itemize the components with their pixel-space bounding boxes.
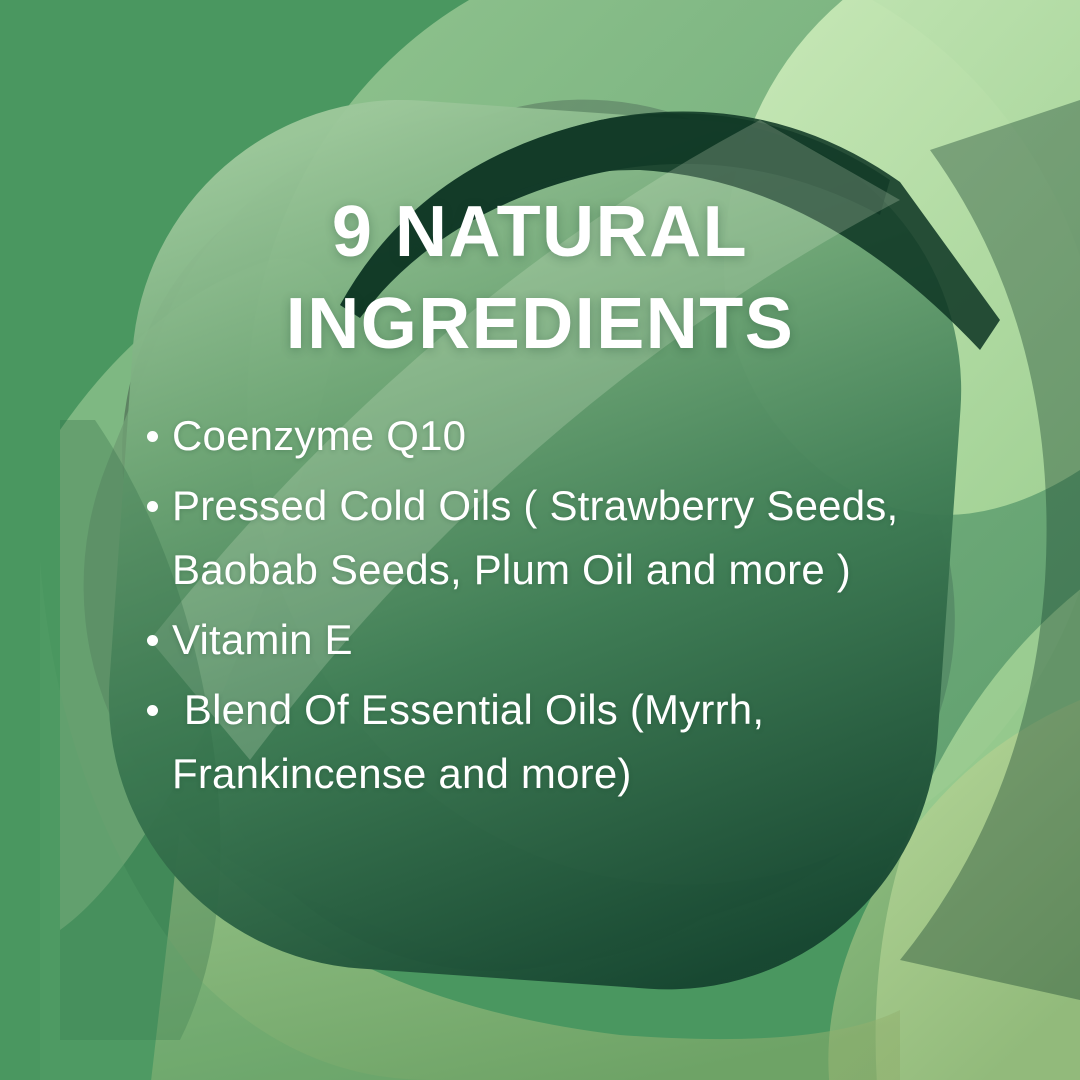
list-item: Vitamin E — [140, 608, 970, 672]
poster-canvas: 9 NATURAL INGREDIENTS Coenzyme Q10Presse… — [0, 0, 1080, 1080]
poster-title: 9 NATURAL INGREDIENTS — [0, 186, 1080, 370]
list-item: Coenzyme Q10 — [140, 404, 970, 468]
list-item-label: Blend Of Essential Oils (Myrrh, Frankinc… — [172, 678, 970, 806]
list-item-label: Vitamin E — [172, 608, 970, 672]
title-line-2: INGREDIENTS — [0, 278, 1080, 370]
bullet-dot-icon — [140, 678, 172, 742]
list-item: Pressed Cold Oils ( Strawberry Seeds, Ba… — [140, 474, 970, 602]
title-line-1: 9 NATURAL — [0, 186, 1080, 278]
bullet-dot-icon — [140, 404, 172, 468]
list-item-label: Pressed Cold Oils ( Strawberry Seeds, Ba… — [172, 474, 970, 602]
list-item: Blend Of Essential Oils (Myrrh, Frankinc… — [140, 678, 970, 806]
list-item-label: Coenzyme Q10 — [172, 404, 970, 468]
bullet-dot-icon — [140, 474, 172, 538]
bullet-dot-icon — [140, 608, 172, 672]
ingredient-list: Coenzyme Q10Pressed Cold Oils ( Strawber… — [140, 404, 970, 812]
